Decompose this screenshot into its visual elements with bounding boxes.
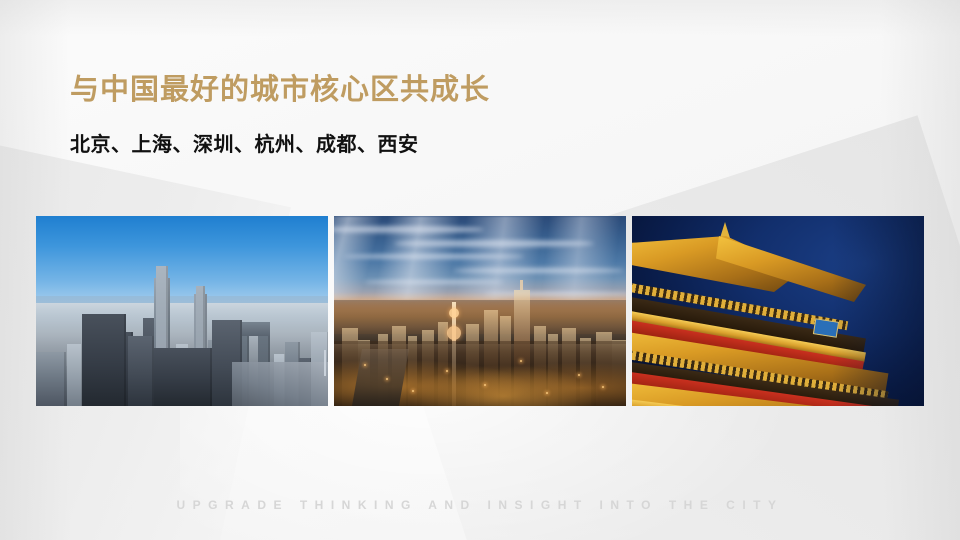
shanghai-cloud-streak [394,240,594,247]
page-subtitle: 北京、上海、深圳、杭州、成都、西安 [70,133,419,157]
beijing-rail-yard [232,362,328,406]
beijing-foreground-block [128,336,154,406]
shanghai-tower-spire [520,280,523,290]
slide-footer-tagline: UPGRADE THINKING AND INSIGHT INTO THE CI… [0,498,960,512]
photo-beijing-cbd [36,216,328,406]
shanghai-city-light [546,392,548,394]
beijing-foreground-tower-left [82,314,126,406]
shanghai-city-light [602,386,604,388]
shanghai-city-light [446,370,448,372]
xian-night-sky-vignette [832,216,924,406]
city-photo-gallery [36,216,924,406]
xian-roof-finial [720,222,730,238]
shanghai-city-light [412,390,414,392]
shanghai-cloud-streak [364,280,504,284]
slide-canvas: 与中国最好的城市核心区共成长 北京、上海、深圳、杭州、成都、西安 [0,0,960,540]
beijing-foreground-tower-center [154,348,212,406]
shanghai-city-light [364,364,366,366]
beijing-crane [324,350,326,376]
beijing-building [67,344,83,406]
shanghai-cloud-streak [454,268,624,273]
page-title: 与中国最好的城市核心区共成长 [70,74,490,107]
photo-shanghai-dusk [334,216,626,406]
beijing-foreground-left-edge [36,352,66,406]
shanghai-city-light [386,378,388,380]
shanghai-city-light [578,374,580,376]
shanghai-city-light [520,360,522,362]
shanghai-city-light [484,384,486,386]
photo-xian-drum-tower [632,216,924,406]
shanghai-cloud-streak [344,254,524,259]
shanghai-pearl-sphere-lower [447,326,461,340]
shanghai-pearl-sphere-upper [449,308,459,318]
beijing-cctv-overhang [238,322,270,336]
